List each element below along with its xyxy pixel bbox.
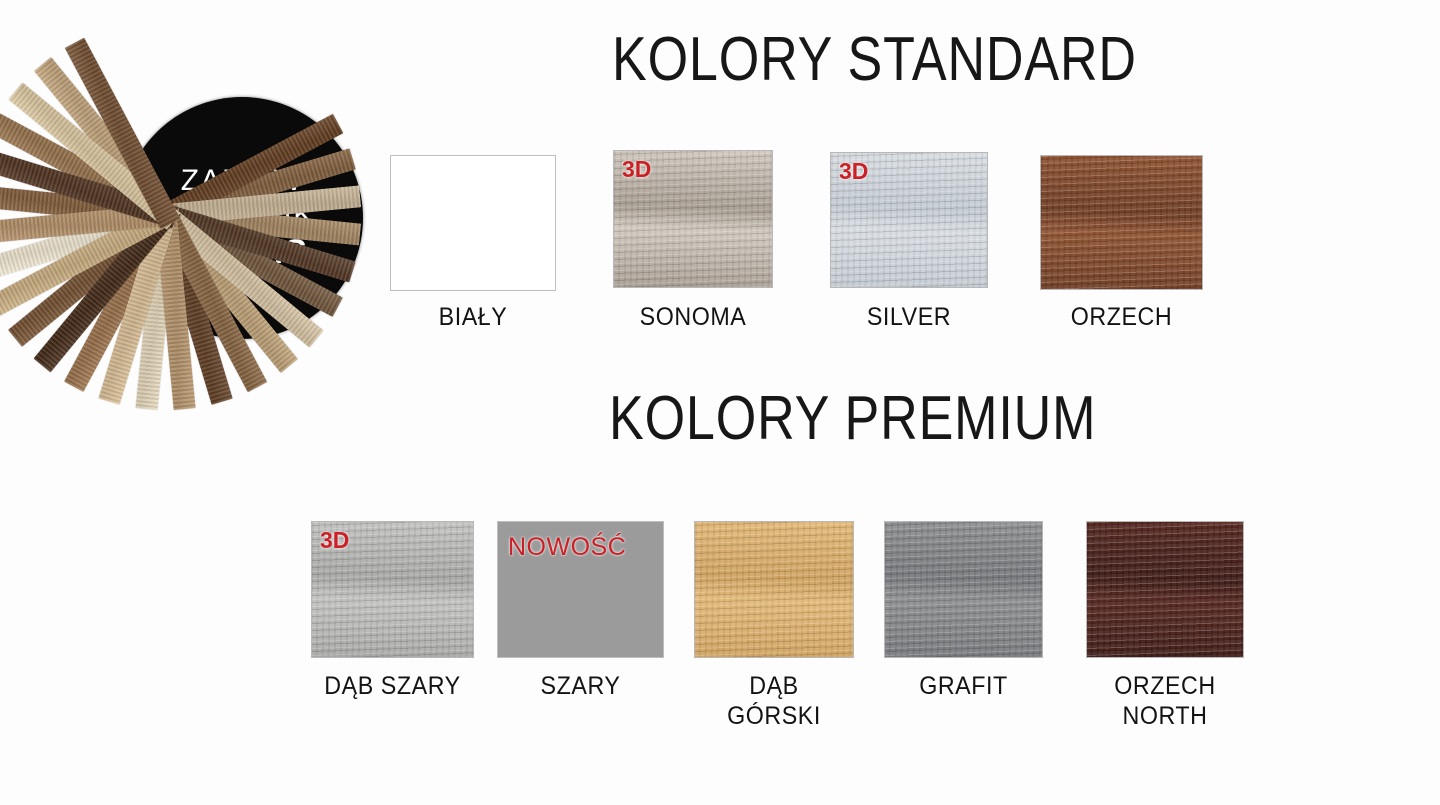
- swatch-sonoma[interactable]: 3DSONOMA: [613, 150, 773, 288]
- swatch-tile-grafit[interactable]: [884, 521, 1043, 658]
- swatch-label-orzech: ORZECH: [1046, 303, 1198, 333]
- swatch-label-silver: SILVER: [836, 303, 983, 333]
- swatch-tile-orzech[interactable]: [1040, 155, 1203, 290]
- swatch-silver[interactable]: 3DSILVER: [830, 152, 988, 288]
- heading-kolory-standard: KOLORY STANDARD: [612, 24, 1137, 95]
- swatch-dab-szary[interactable]: 3DDĄB SZARY: [311, 521, 474, 658]
- swatch-label-grafit: GRAFIT: [890, 672, 1038, 702]
- swatch-label-dab-szary: DĄB SZARY: [317, 672, 469, 702]
- swatch-tile-dab-gorski[interactable]: [694, 521, 854, 658]
- swatch-label-line: GÓRSKI: [700, 702, 849, 732]
- swatch-bialy[interactable]: BIAŁY: [390, 155, 556, 291]
- swatch-label-orzech-north: ORZECHNORTH: [1092, 672, 1239, 731]
- three-d-badge: 3D: [622, 158, 651, 181]
- nowosc-badge: NOWOŚĆ: [508, 535, 626, 560]
- swatch-dab-gorski[interactable]: DĄBGÓRSKI: [694, 521, 854, 658]
- swatch-tile-sonoma[interactable]: 3D: [613, 150, 773, 288]
- swatch-label-szary: SZARY: [503, 672, 658, 702]
- swatch-szary[interactable]: NOWOŚĆSZARY: [497, 521, 664, 658]
- three-d-badge: 3D: [839, 160, 868, 183]
- swatch-tile-silver[interactable]: 3D: [830, 152, 988, 288]
- swatch-label-line: NORTH: [1092, 702, 1239, 732]
- color-palette-page: ZAMÓW PRÓBNIK GRATIS KOLORY STANDARD KOL…: [0, 0, 1440, 805]
- swatch-tile-dab-szary[interactable]: 3D: [311, 521, 474, 658]
- swatch-label-line: DĄB: [700, 672, 849, 702]
- swatch-tile-orzech-north[interactable]: [1086, 521, 1244, 658]
- swatch-label-line: ORZECH: [1092, 672, 1239, 702]
- three-d-badge: 3D: [320, 529, 349, 552]
- swatch-tile-bialy[interactable]: [390, 155, 556, 291]
- swatch-label-dab-gorski: DĄBGÓRSKI: [700, 672, 849, 731]
- heading-kolory-premium: KOLORY PREMIUM: [609, 383, 1096, 454]
- swatch-label-bialy: BIAŁY: [396, 303, 550, 333]
- swatch-orzech[interactable]: ORZECH: [1040, 155, 1203, 290]
- swatch-label-sonoma: SONOMA: [619, 303, 768, 333]
- swatch-tile-szary[interactable]: NOWOŚĆ: [497, 521, 664, 658]
- swatch-grafit[interactable]: GRAFIT: [884, 521, 1043, 658]
- swatch-orzech-north[interactable]: ORZECHNORTH: [1086, 521, 1244, 658]
